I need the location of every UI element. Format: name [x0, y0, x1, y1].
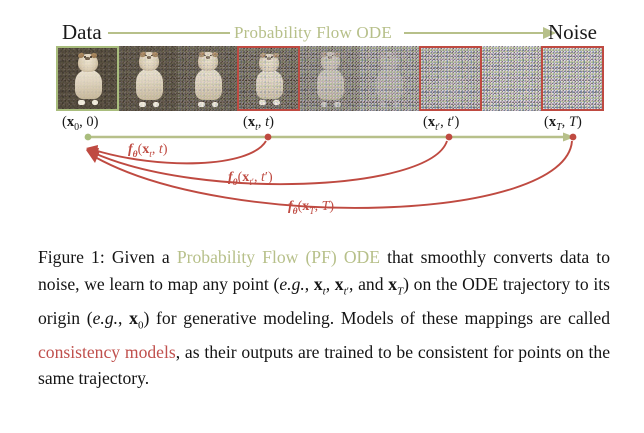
caption-eg-2: e.g.	[93, 308, 118, 328]
dot-x0	[85, 134, 92, 141]
dot-xt	[265, 134, 272, 141]
arrow-label-ft: fθ(xt, t)	[128, 141, 167, 164]
figure-caption: Figure 1: Given a Probability Flow (PF) …	[38, 244, 610, 392]
frame-0	[56, 46, 119, 111]
diffusion-frame-strip	[56, 46, 604, 111]
caption-mid-2: , xt	[305, 274, 326, 294]
caption-red-phrase: consistency models	[38, 342, 176, 362]
arrow-label-fT: fθ(xT, T)	[288, 198, 334, 221]
flow-label-ode: Probability Flow ODE	[234, 20, 392, 46]
frame-4	[300, 46, 359, 111]
probability-flow-header: Data Probability Flow ODE Noise	[0, 18, 644, 46]
arrowhead-fT-icon	[86, 150, 100, 163]
frame-8	[541, 46, 604, 111]
consistency-mapping-arrows: fθ(xt, t) fθ(xt′, t′) fθ(xT, T)	[0, 130, 644, 230]
trajectory-point-labels: (x0, 0) (xt, t) (xt′, t′) (xT, T)	[0, 112, 644, 132]
caption-eg-1: e.g.	[279, 274, 304, 294]
dot-xtprime	[446, 134, 453, 141]
frame-5	[360, 46, 419, 111]
frame-7	[482, 46, 541, 111]
frame-3	[237, 46, 300, 111]
frame-6	[419, 46, 482, 111]
frame-2	[178, 46, 237, 111]
caption-mid-3: , xt′	[326, 274, 349, 294]
flow-label-noise: Noise	[548, 18, 597, 46]
arrow-label-ftprime: fθ(xt′, t′)	[228, 169, 273, 192]
caption-mid-7: ) for generative modeling. Models of the…	[143, 308, 610, 328]
caption-mid-6: , x0	[118, 308, 143, 328]
caption-prefix: Figure 1: Given a	[38, 247, 177, 267]
frame-1	[119, 46, 178, 111]
caption-mid-4: , and xT	[349, 274, 403, 294]
dot-xT	[570, 134, 577, 141]
figure-1: Data Probability Flow ODE Noise	[0, 0, 644, 433]
arrow-ft	[94, 141, 266, 163]
caption-green-phrase: Probability Flow (PF) ODE	[177, 247, 380, 267]
flow-label-data: Data	[62, 18, 102, 46]
